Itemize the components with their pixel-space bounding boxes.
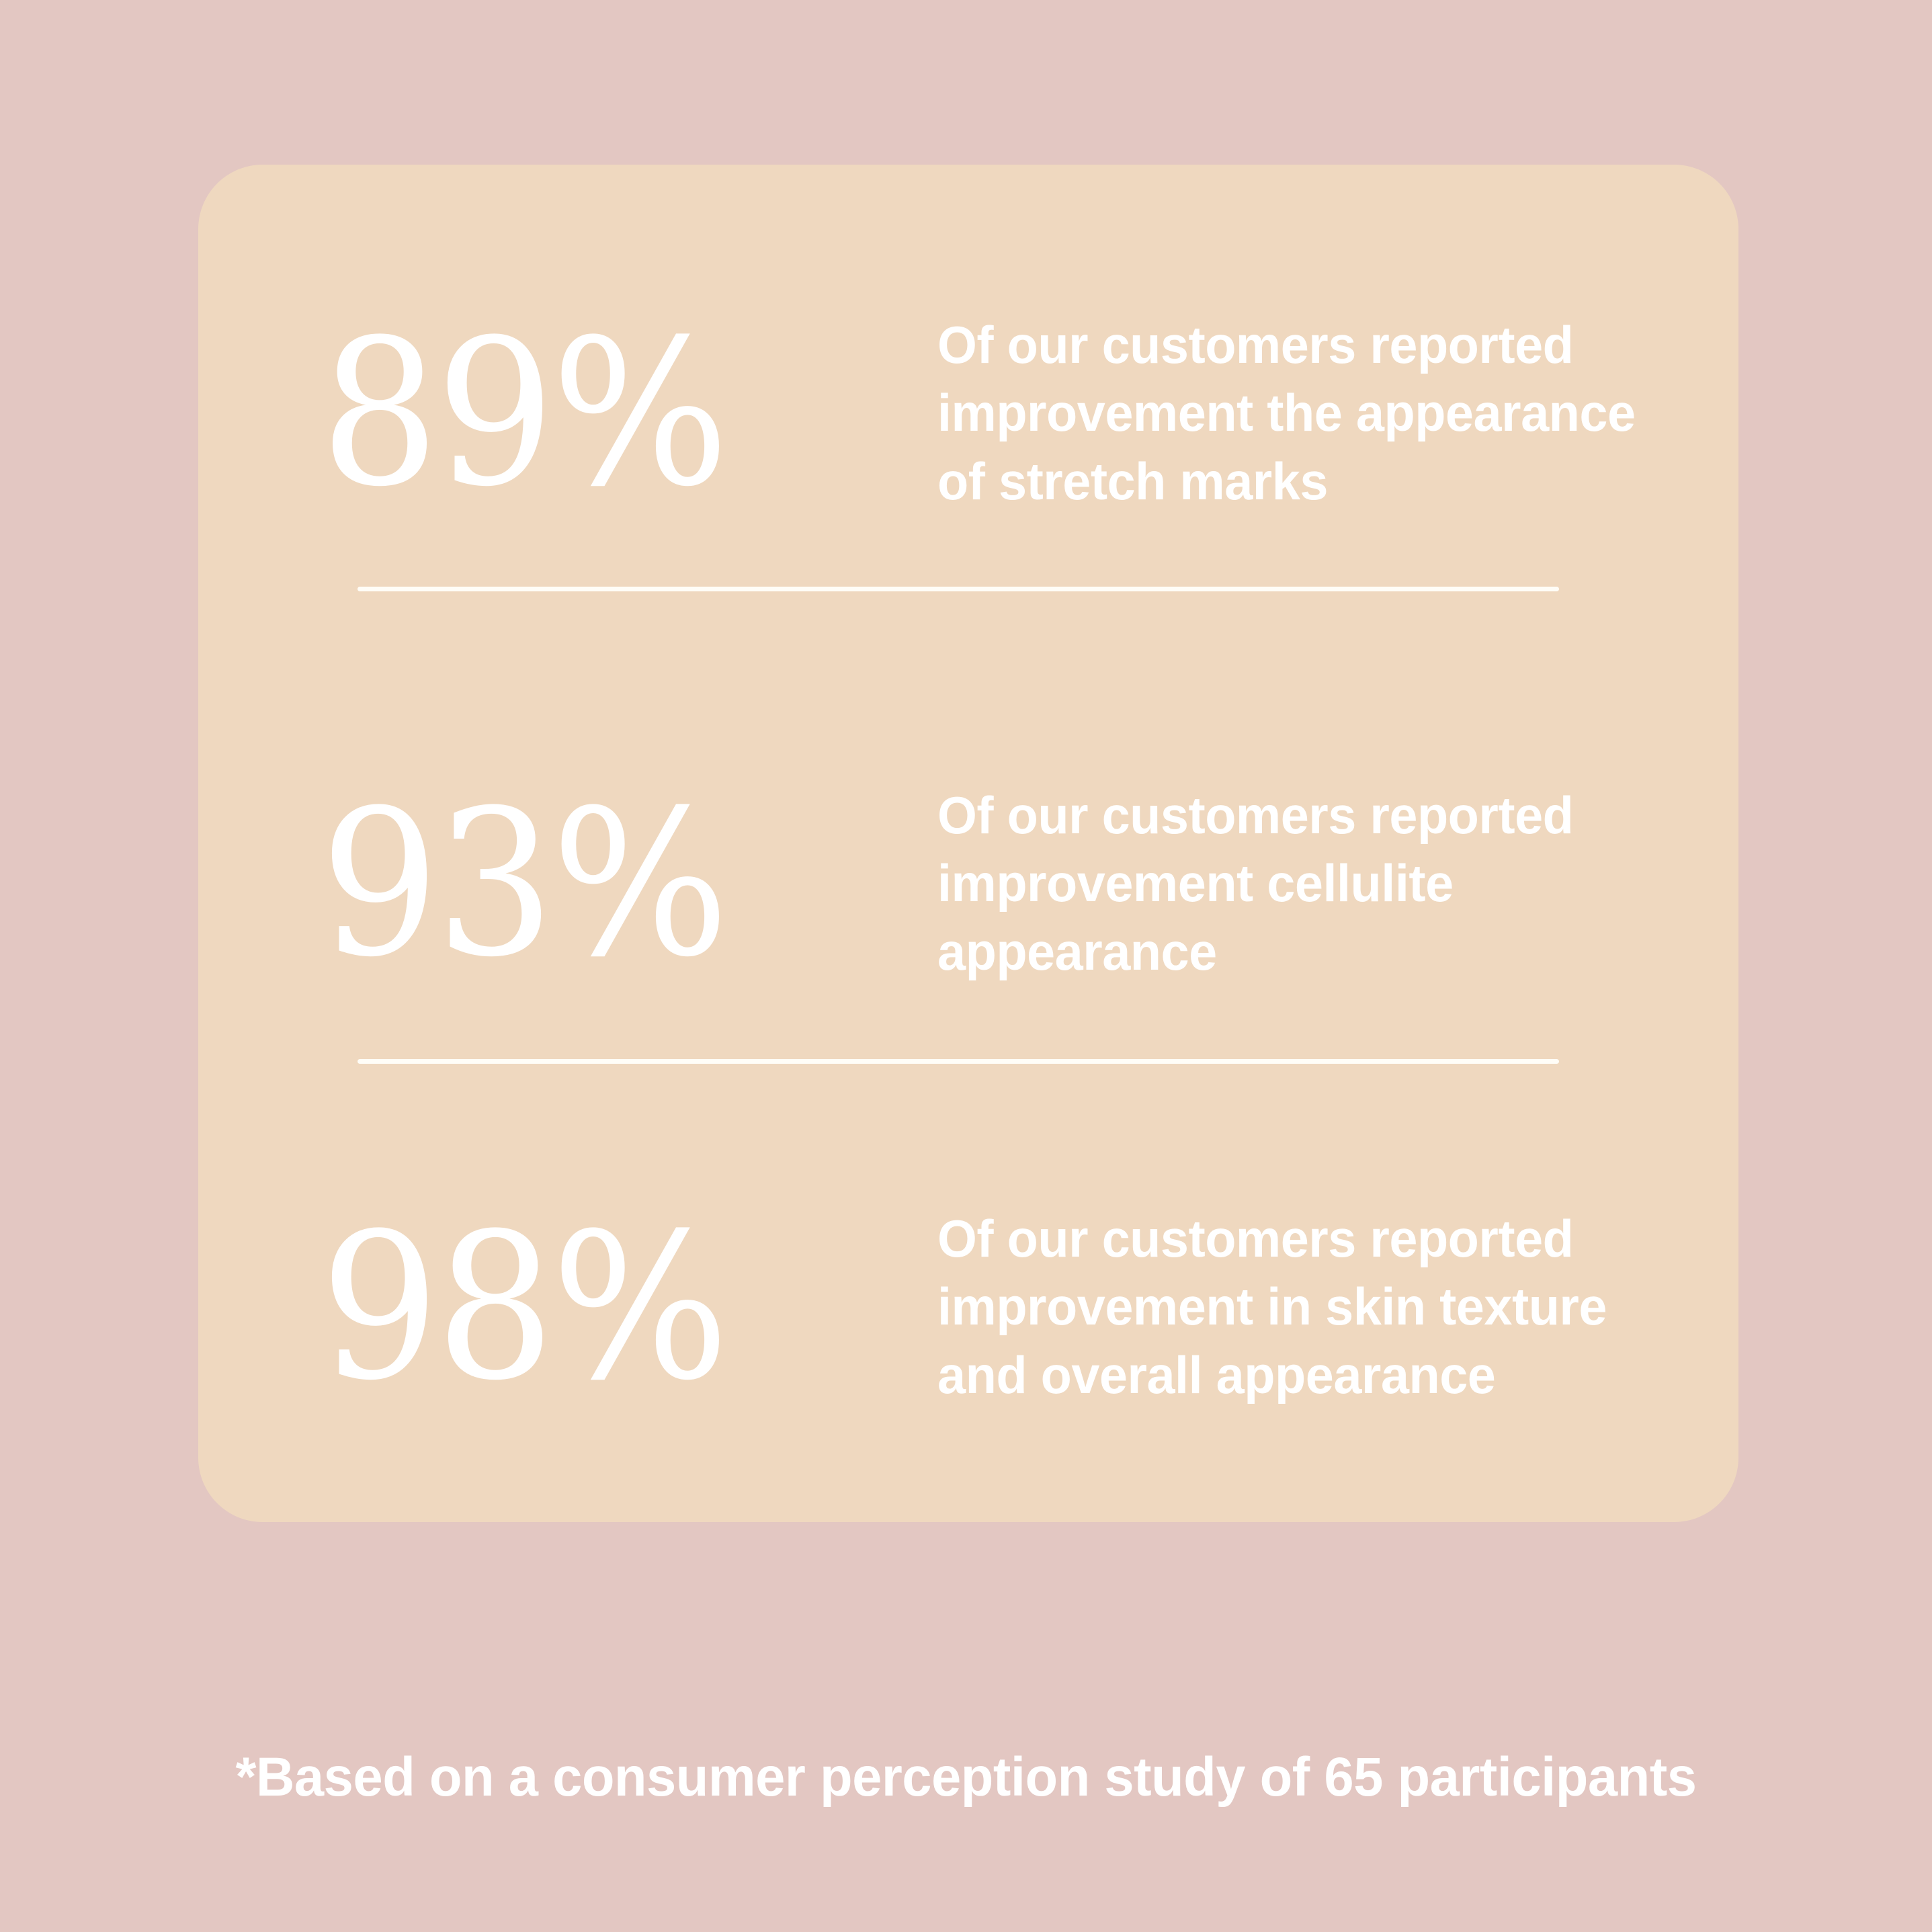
stat-figure-percentage: 89%: [198, 318, 886, 509]
stat-row-skin-texture: 98% Of our customers reported improvemen…: [198, 1119, 1738, 1495]
stat-row-cellulite: 93% Of our customers reported improvemen…: [198, 736, 1738, 1032]
footnote-disclaimer: *Based on a consumer perception study of…: [29, 1747, 1903, 1808]
stats-card: 89% Of our customers reported improvemen…: [198, 165, 1738, 1522]
stat-description: Of our customers reported improvement in…: [937, 1205, 1714, 1409]
stat-divider: [358, 587, 1559, 591]
stat-description: Of our customers reported improvement th…: [937, 311, 1714, 515]
stat-figure-percentage: 98%: [198, 1212, 886, 1403]
stat-divider: [358, 1059, 1559, 1064]
stat-row-stretch-marks: 89% Of our customers reported improvemen…: [198, 239, 1738, 588]
stat-figure-percentage: 93%: [198, 788, 886, 980]
stat-description: Of our customers reported improvement ce…: [937, 782, 1714, 986]
